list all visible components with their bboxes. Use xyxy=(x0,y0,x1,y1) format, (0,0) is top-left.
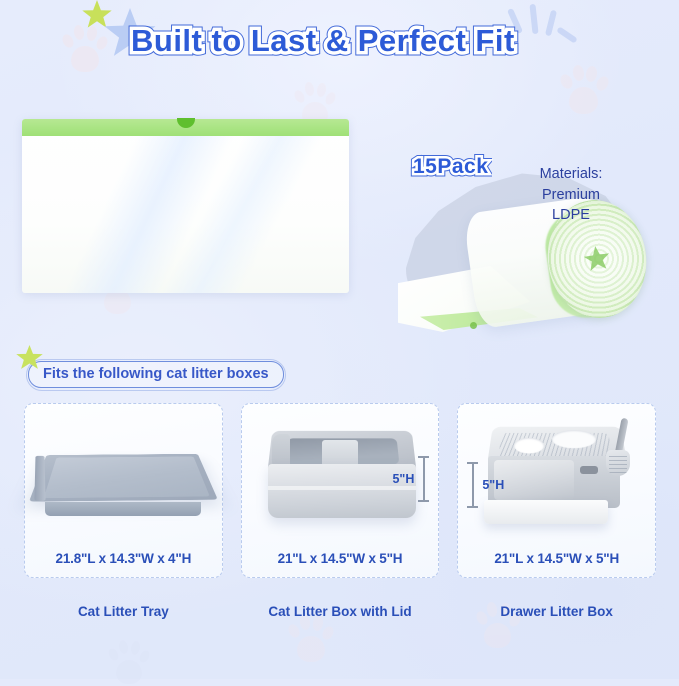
roll-sheet-dot xyxy=(470,322,477,329)
tray-front-wall xyxy=(45,502,201,516)
drawer-box-dimension-line xyxy=(467,462,478,508)
materials-value-ldpe: LDPE xyxy=(516,205,626,226)
box-with-lid-divider xyxy=(322,440,358,466)
drawer-box-scoop xyxy=(606,418,632,480)
drawer-box-body-group xyxy=(484,422,634,528)
scoop-pan xyxy=(606,450,630,476)
tray-top-surface xyxy=(29,454,218,502)
materials-value-premium: Premium xyxy=(516,185,626,206)
paw-print-bottom-center xyxy=(288,612,334,664)
materials-block: Materials: Premium LDPE xyxy=(516,164,626,226)
liner-sheet-image xyxy=(22,119,349,293)
box-with-lid-left-wall xyxy=(272,434,290,468)
compatibility-card-list: 21.8"L x 14.3"W x 4"H 5"H 21"L x 14.5"W … xyxy=(24,403,656,578)
card-caption-list: Cat Litter Tray Cat Litter Box with Lid … xyxy=(24,604,656,619)
drawer-box-dimensions: 21"L x 14.5"W x 5"H xyxy=(458,551,655,566)
tray-illustration xyxy=(25,410,222,528)
box-with-lid-dimension-line xyxy=(418,456,429,502)
page-title-text: Built to Last & Perfect Fit xyxy=(131,23,515,59)
caption-cat-litter-box-with-lid: Cat Litter Box with Lid xyxy=(241,604,440,619)
paw-print-top-right xyxy=(560,62,608,116)
box-with-lid-dimensions: 21"L x 14.5"W x 5"H xyxy=(242,551,439,566)
compatibility-banner-label: Fits the following cat litter boxes xyxy=(28,361,284,388)
tray-side-lip xyxy=(34,456,45,501)
caption-drawer-litter-box: Drawer Litter Box xyxy=(457,604,656,619)
compatibility-banner: Fits the following cat litter boxes xyxy=(28,361,284,388)
materials-label: Materials: xyxy=(516,164,626,185)
drawer-box-handle xyxy=(580,466,598,474)
caption-cat-litter-tray: Cat Litter Tray xyxy=(24,604,223,619)
drawer-box-height-marker: 5"H xyxy=(467,462,504,508)
litter-box-card-drawer[interactable]: 5"H 21"L x 14.5"W x 5"H xyxy=(457,403,656,578)
paw-print-top-left xyxy=(62,22,108,74)
tray-dimensions: 21.8"L x 14.3"W x 4"H xyxy=(25,551,222,566)
tray-inner-floor xyxy=(44,456,210,498)
litter-box-card-with-lid[interactable]: 5"H 21"L x 14.5"W x 5"H xyxy=(241,403,440,578)
litter-box-card-tray[interactable]: 21.8"L x 14.3"W x 4"H xyxy=(24,403,223,578)
drawer-box-height-label: 5"H xyxy=(482,478,504,492)
pack-badge-text: 15Pack xyxy=(413,155,488,179)
box-with-lid-height-marker: 5"H xyxy=(392,456,429,502)
box-with-lid-height-label: 5"H xyxy=(392,472,414,486)
